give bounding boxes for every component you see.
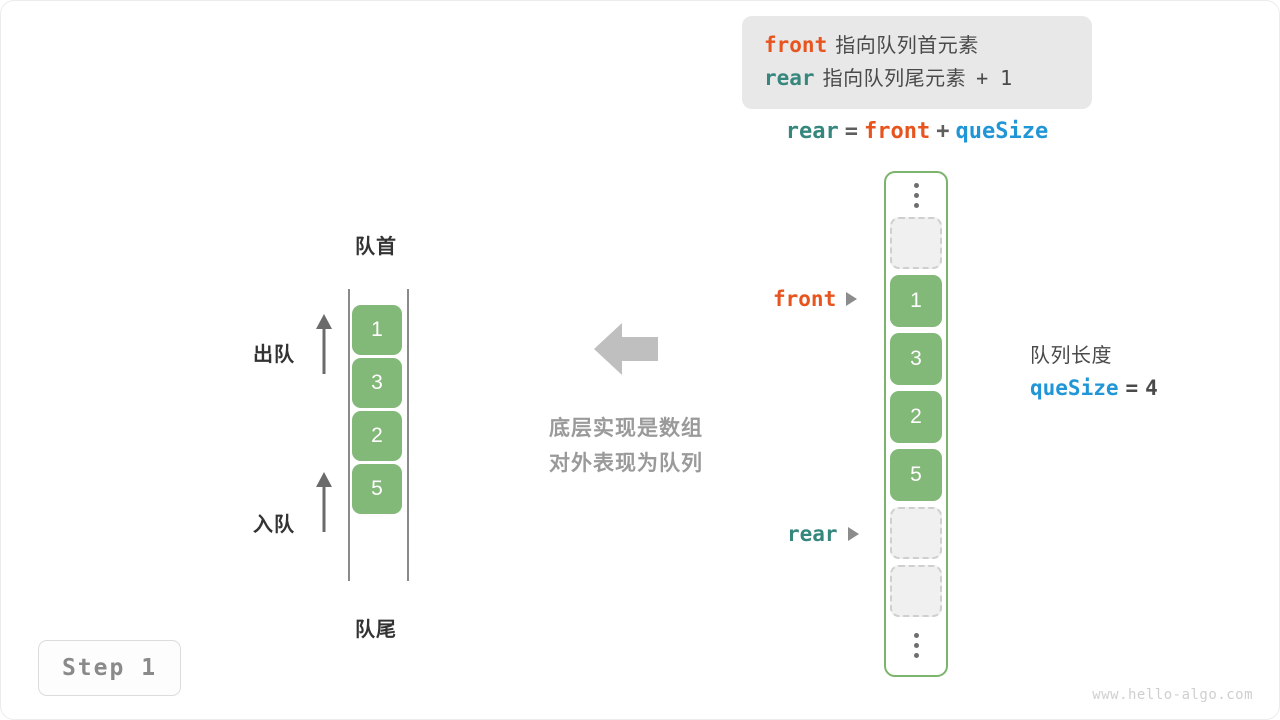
quesize-variable: queSize: [1030, 376, 1119, 400]
arrow-right-icon: [846, 292, 857, 306]
queue-cell: 1: [352, 305, 402, 355]
array-container: 1 3 2 5: [884, 171, 948, 677]
caption-line-2: 对外表现为队列: [501, 446, 751, 481]
caption-line-1: 底层实现是数组: [501, 411, 751, 446]
enqueue-label: 入队: [253, 508, 295, 537]
array-top-ellipsis-icon: [914, 173, 919, 217]
queue-rail-right: [407, 289, 409, 581]
center-caption: 底层实现是数组 对外表现为队列: [501, 411, 751, 481]
formula-rhs-quesize: queSize: [956, 119, 1049, 144]
array-cell: 1: [890, 275, 942, 327]
legend-suffix-rear: + 1: [976, 66, 1012, 90]
queue-tail-label: 队尾: [316, 613, 436, 642]
pointer-rear-label: rear: [787, 522, 838, 546]
legend-line-rear: rear指向队列尾元素+ 1: [764, 62, 1072, 95]
queue-cell: 5: [352, 464, 402, 514]
arrow-right-icon: [848, 527, 859, 541]
transform-arrow-left-icon: [594, 319, 658, 384]
legend-keyword-front: front: [764, 33, 827, 57]
legend-text-front: 指向队列首元素: [835, 35, 979, 57]
queue-head-label: 队首: [316, 230, 436, 259]
quesize-equals: =: [1119, 376, 1146, 400]
queue-size-note: 队列长度 queSize=4: [1030, 341, 1158, 405]
dequeue-arrow-up-icon: [314, 313, 334, 380]
queue-size-label: 队列长度: [1030, 341, 1158, 371]
array-cell: [890, 217, 942, 269]
array-cell: 5: [890, 449, 942, 501]
queue-rail-left: [348, 289, 350, 581]
array-cell: 2: [890, 391, 942, 443]
formula-equals: =: [839, 119, 864, 144]
legend-keyword-rear: rear: [764, 66, 815, 90]
array-cell: 3: [890, 333, 942, 385]
array-cell: [890, 565, 942, 617]
formula-rhs-front: front: [864, 119, 930, 144]
diagram-canvas: front指向队列首元素 rear指向队列尾元素+ 1 rear=front+q…: [0, 0, 1280, 720]
pointer-front: front: [773, 287, 857, 311]
step-badge: Step 1: [38, 640, 181, 696]
quesize-value: 4: [1145, 376, 1158, 400]
array-bottom-ellipsis-icon: [914, 623, 919, 667]
queue-cell: 2: [352, 411, 402, 461]
dequeue-label: 出队: [253, 338, 295, 367]
formula-lhs: rear: [786, 119, 839, 144]
legend-line-front: front指向队列首元素: [764, 29, 1072, 62]
legend-text-rear: 指向队列尾元素: [823, 68, 967, 90]
queue-cell: 3: [352, 358, 402, 408]
formula-plus: +: [930, 119, 955, 144]
queue-size-expression: queSize=4: [1030, 371, 1158, 405]
enqueue-arrow-up-icon: [314, 471, 334, 538]
array-cell: [890, 507, 942, 559]
legend-box: front指向队列首元素 rear指向队列尾元素+ 1: [742, 16, 1092, 109]
pointer-rear: rear: [787, 522, 859, 546]
watermark: www.hello-algo.com: [1092, 687, 1253, 703]
pointer-front-label: front: [773, 287, 836, 311]
formula-rear-equation: rear=front+queSize: [742, 119, 1092, 144]
